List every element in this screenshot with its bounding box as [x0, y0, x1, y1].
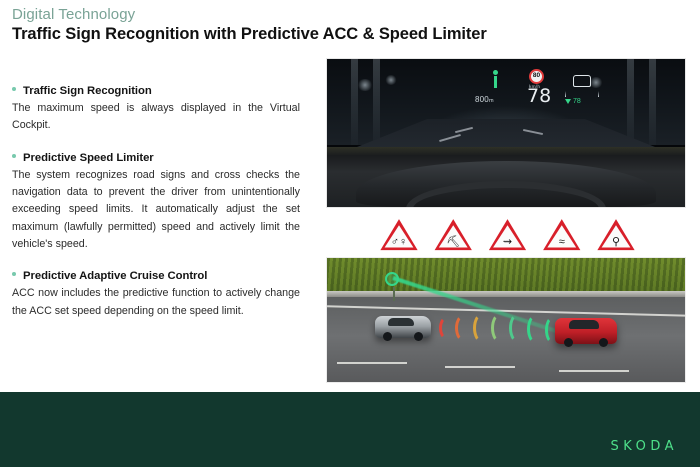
block-heading: Traffic Sign Recognition	[12, 85, 300, 97]
radar-wave	[527, 314, 545, 344]
bullet-icon	[12, 87, 16, 91]
roadside-vegetation	[327, 258, 685, 294]
radar-wave	[439, 316, 455, 340]
block-title: Traffic Sign Recognition	[23, 85, 152, 97]
lead-vehicle-icon	[573, 75, 591, 87]
slippery-road-sign: ⇝	[489, 219, 527, 252]
radar-wave	[509, 313, 527, 343]
skoda-logo: SKODA	[611, 439, 678, 454]
following-vehicle-red-suv	[555, 318, 617, 344]
block-heading: Predictive Speed Limiter	[12, 152, 300, 164]
content-block-traffic-sign-recognition: Traffic Sign Recognition The maximum spe…	[12, 85, 300, 135]
warning-signs-row: ♂♀ ⛏ ⇝ ≈ ⚲	[380, 218, 635, 252]
radar-wave	[473, 313, 491, 343]
hud-overlay-graphics: 800m 80 km/h 78 78	[473, 67, 603, 115]
hud-acc-set-speed: 78	[565, 98, 581, 105]
content-column: Traffic Sign Recognition The maximum spe…	[12, 85, 300, 337]
bullet-icon	[12, 272, 16, 276]
block-body: The system recognizes road signs and cro…	[12, 167, 300, 254]
lane-marking	[445, 366, 515, 368]
tunnel-pillar	[351, 59, 358, 145]
tunnel-pillar	[627, 59, 634, 145]
block-title: Predictive Speed Limiter	[23, 152, 154, 164]
children-crossing-sign: ♂♀	[380, 219, 418, 252]
slide-root: Digital Technology Traffic Sign Recognit…	[0, 0, 700, 467]
dashboard	[327, 147, 685, 208]
loose-chippings-sign: ≈	[543, 219, 581, 252]
cyclists-glyph: ⚲	[597, 237, 635, 248]
content-block-predictive-adaptive-cruise-control: Predictive Adaptive Cruise Control ACC n…	[12, 270, 300, 320]
head-up-display-photo: 800m 80 km/h 78 78	[326, 58, 686, 208]
block-body: ACC now includes the predictive function…	[12, 285, 300, 320]
lane-marking	[559, 370, 629, 372]
footer-band: SKODA	[0, 392, 700, 467]
street-light-glow	[357, 79, 373, 91]
radar-wave	[491, 313, 509, 343]
content-block-predictive-speed-limiter: Predictive Speed Limiter The system reco…	[12, 152, 300, 254]
bullet-icon	[12, 154, 16, 158]
navigation-direction-icon	[491, 70, 499, 90]
radar-wave	[455, 314, 473, 342]
cyclists-sign: ⚲	[597, 219, 635, 252]
tunnel-pillar	[649, 59, 656, 145]
tunnel-pillar	[373, 59, 380, 145]
street-light-glow	[385, 75, 397, 85]
wheel	[564, 338, 573, 347]
lead-vehicle-silver-sedan	[375, 316, 431, 338]
wheel	[599, 338, 608, 347]
down-arrow-icon	[565, 99, 571, 104]
block-heading: Predictive Adaptive Cruise Control	[12, 270, 300, 282]
wheel	[414, 332, 423, 341]
block-title: Predictive Adaptive Cruise Control	[23, 270, 207, 282]
block-body: The maximum speed is always displayed in…	[12, 100, 300, 135]
page-title: Traffic Sign Recognition with Predictive…	[12, 25, 487, 44]
roadworks-glyph: ⛏	[434, 237, 472, 248]
adaptive-cruise-control-photo	[326, 257, 686, 383]
children-crossing-glyph: ♂♀	[380, 237, 418, 248]
loose-chippings-glyph: ≈	[543, 237, 581, 248]
slippery-road-glyph: ⇝	[489, 237, 527, 248]
wheel	[383, 332, 392, 341]
speed-limit-sign-icon: 80	[529, 69, 544, 84]
slide-kicker: Digital Technology	[12, 6, 135, 23]
hud-distance-readout: 800m	[475, 95, 494, 104]
acc-lane-icon	[565, 69, 599, 97]
roadworks-sign: ⛏	[434, 219, 472, 252]
hud-current-speed: 78	[527, 87, 551, 106]
lane-marking	[337, 362, 407, 364]
